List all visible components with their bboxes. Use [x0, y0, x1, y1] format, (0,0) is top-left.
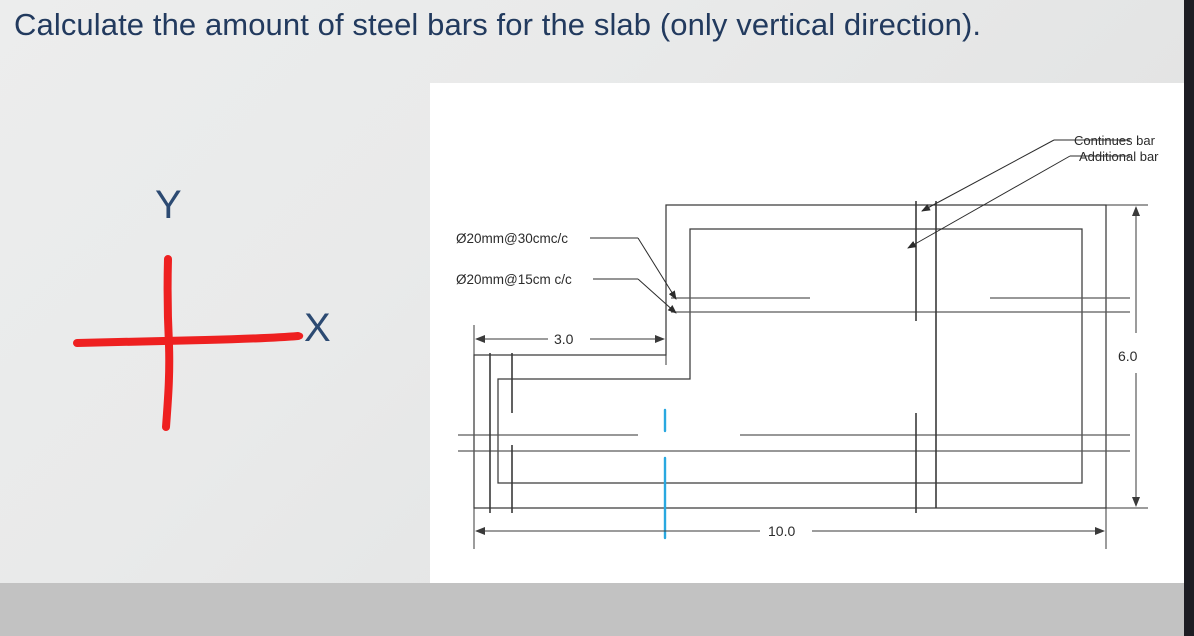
- slab-outer-boundary: [474, 205, 1106, 508]
- dimension-value-10: 10.0: [768, 523, 795, 539]
- hand-drawn-axes-annotation: Y X: [55, 175, 385, 455]
- x-axis-ink-dot: [297, 333, 303, 339]
- slab-drawing-panel: Ø20mm@30cmc/c Ø20mm@15cm c/c Continues b…: [430, 83, 1184, 592]
- legend-label-additional-bar: Additional bar: [1079, 149, 1159, 164]
- axes-ink-svg: [55, 175, 385, 455]
- dimension-value-3: 3.0: [554, 331, 574, 347]
- horizontal-rebar-group: [458, 298, 1130, 451]
- slab-drawing-svg: Ø20mm@30cmc/c Ø20mm@15cm c/c Continues b…: [430, 83, 1184, 592]
- rebar-label-additional-spec: Ø20mm@15cm c/c: [456, 272, 572, 287]
- page-title: Calculate the amount of steel bars for t…: [14, 5, 1134, 45]
- axis-label-y: Y: [155, 185, 182, 225]
- rebar-label-continues-spec: Ø20mm@30cmc/c: [456, 231, 568, 246]
- right-edge-strip: [1184, 0, 1194, 636]
- vertical-rebar-group: [490, 201, 936, 513]
- axis-label-x: X: [304, 308, 331, 348]
- leader-15cm-slant: [638, 279, 676, 313]
- slab-inner-offset-boundary: [498, 229, 1082, 483]
- x-axis-ink-stroke: [77, 336, 298, 343]
- dimension-value-6: 6.0: [1118, 348, 1138, 364]
- legend-label-continues-bar: Continues bar: [1074, 133, 1156, 148]
- slide-canvas: Calculate the amount of steel bars for t…: [0, 0, 1194, 636]
- bottom-band: [0, 583, 1184, 636]
- leader-30cm-slant: [638, 238, 676, 299]
- slab-outline-group: [474, 205, 1106, 508]
- leader-continues-bar-slant: [922, 140, 1054, 211]
- rebar-label-leaders: [590, 238, 676, 313]
- leader-additional-bar-slant: [908, 156, 1070, 248]
